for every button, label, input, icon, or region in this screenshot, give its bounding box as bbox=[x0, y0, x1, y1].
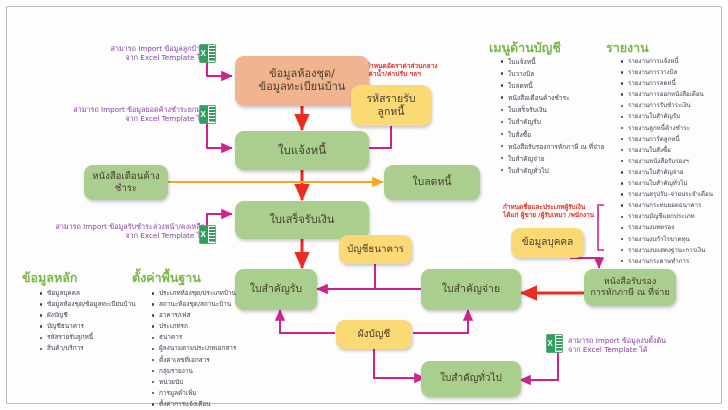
basic-settings-list: ประเภทห้องชุด/ประเภทบ้าน สถานะห้องชุด/สถ… bbox=[148, 288, 236, 410]
list-item[interactable]: ข้อมูลบุคคล bbox=[47, 288, 136, 298]
list-item[interactable]: กลุ่มรายงาน bbox=[159, 366, 236, 376]
node-income-code-line2: ลูกหนี้ bbox=[367, 106, 416, 118]
basic-settings-item-6: ตั้งค่าเลขที่เอกสาร bbox=[159, 356, 210, 364]
reports-item-6: รายงานลูกหนี้ค้างชำระ bbox=[628, 125, 690, 132]
reports-item-3: รายงานการออกหนังสือเตือน bbox=[628, 91, 704, 98]
basic-settings-item-4: ธนาคาร bbox=[159, 333, 182, 341]
diagram-canvas: สามารถ Import ข้อมูลลูกบ้าน จาก Excel Te… bbox=[0, 0, 728, 410]
reports-item-11: รายงานใบสำคัญทั่วไป bbox=[628, 180, 687, 187]
list-item[interactable]: ตั้งค่าเลขที่เอกสาร bbox=[159, 355, 236, 365]
node-general-voucher[interactable]: ใบสำคัญทั่วไป bbox=[421, 361, 521, 397]
reports-item-0: รายงานการแจ้งหนี้ bbox=[628, 58, 679, 65]
list-item[interactable]: รายงานกระดาษทำการ bbox=[628, 256, 713, 266]
list-item[interactable]: ใบสั่งซื้อ bbox=[508, 129, 605, 140]
master-data-item-3: บัญชีธนาคาร bbox=[47, 322, 84, 330]
note-import-customer: สามารถ Import ข้อมูลลูกบ้าน จาก Excel Te… bbox=[40, 44, 205, 62]
reports-item-8: รายงานใบสั่งซื้อ bbox=[628, 147, 671, 154]
list-item[interactable]: รายงานกระทบยอดธนาคาร bbox=[628, 200, 713, 210]
basic-settings-item-10: ตั้งค่าการแจ้งเตือน bbox=[159, 400, 211, 408]
master-data-list: ข้อมูลบุคคล ข้อมูลห้องชุด/ข้อมูลทะเบียนบ… bbox=[36, 288, 136, 355]
list-item[interactable]: บัญชีธนาคาร bbox=[47, 321, 136, 331]
accounting-menu-item-2: ใบลดหนี้ bbox=[508, 82, 533, 90]
list-item[interactable]: รายงานการ์ดลูกหนี้ bbox=[628, 134, 713, 144]
basic-settings-item-9: การมูลคำเพิ่ม bbox=[159, 389, 197, 397]
reports-title: รายงาน bbox=[606, 38, 649, 58]
list-item[interactable]: รายงานการวางบิล bbox=[628, 67, 713, 77]
node-reminder[interactable]: หนังสือเตือนค้าง ชำระ bbox=[84, 165, 168, 200]
accounting-menu-item-8: ใบสำคัญจ่าย bbox=[508, 155, 545, 163]
node-chart-of-accounts-label: ผังบัญชี bbox=[358, 329, 390, 341]
list-item[interactable]: รายงานใบสำคัญทั่วไป bbox=[628, 178, 713, 188]
basic-settings-item-2: อาคาร/เฟส bbox=[159, 311, 191, 319]
node-receive-voucher-label: ใบสำคัญรับ bbox=[250, 283, 302, 295]
accounting-menu-item-7: หนังสือรับรองการหักภาษี ณ ที่จ่าย bbox=[508, 143, 605, 151]
master-data-item-5: สินค้า/บริการ bbox=[47, 344, 84, 352]
node-income-code-line1: รหัสรายรับ bbox=[367, 93, 416, 105]
basic-settings-item-5: ผู้ลงนามตามประเภทเอกสาร bbox=[159, 344, 236, 352]
list-item[interactable]: ตั้งค่าการแจ้งเตือน bbox=[159, 399, 236, 409]
reports-item-15: รายงานงบทดรอง bbox=[628, 224, 674, 231]
node-room-data[interactable]: ข้อมูลห้องชุด/ ข้อมูลทะเบียนบ้าน bbox=[235, 56, 369, 106]
basic-settings-item-3: ประเภทรถ bbox=[159, 322, 188, 330]
node-credit-note-label: ใบลดหนี้ bbox=[412, 176, 451, 188]
svg-text:X: X bbox=[548, 339, 554, 348]
node-receipt-label: ใบเสร็จรับเงิน bbox=[270, 214, 335, 227]
list-item[interactable]: ผู้ลงนามตามประเภทเอกสาร bbox=[159, 343, 236, 353]
node-general-voucher-label: ใบสำคัญทั่วไป bbox=[440, 373, 502, 385]
note-person-setting: กำหนดชื่อและประเภทผู้รับเงิน ได้แก่ ผู้ข… bbox=[503, 203, 625, 219]
list-item[interactable]: ข้อมูลห้องชุด/ข้อมูลทะเบียนบ้าน bbox=[47, 299, 136, 309]
list-item[interactable]: ใบสำคัญจ่าย bbox=[508, 153, 605, 164]
list-item[interactable]: รายงานงบกำไรขาดทุน bbox=[628, 234, 713, 244]
node-reminder-line1: หนังสือเตือนค้าง bbox=[92, 171, 160, 182]
reports-item-7: รายงานการ์ดลูกหนี้ bbox=[628, 136, 680, 143]
list-item[interactable]: รายงานงบแสดงฐานะการเงิน bbox=[628, 245, 713, 255]
node-person-data[interactable]: ข้อมูลบุคคล bbox=[511, 228, 584, 258]
node-bank-account[interactable]: บัญชีธนาคาร bbox=[339, 235, 412, 264]
node-wht-certificate-line1: หนังสือรับรอง bbox=[590, 277, 669, 287]
accounting-menu-list: ใบแจ้งหนี้ ใบวางบิล ใบลดหนี้ หนังสือเตือ… bbox=[497, 56, 605, 177]
list-item[interactable]: รายงานการรับชำระเงิน bbox=[628, 100, 713, 110]
node-bank-account-label: บัญชีธนาคาร bbox=[347, 244, 404, 255]
list-item[interactable]: รายงานงบทดรอง bbox=[628, 222, 713, 232]
list-item[interactable]: ใบสำคัญทั่วไป bbox=[508, 165, 605, 176]
note-import-opening: สามารถ Import ข้อมูลงบตั้งต้น จาก Excel … bbox=[568, 336, 718, 354]
list-item[interactable]: รายงานสรุปรับ–จ่ายประจำเดือน bbox=[628, 189, 713, 199]
list-item[interactable]: สถานะห้องชุด/สถานะบ้าน bbox=[159, 299, 236, 309]
list-item[interactable]: การมูลคำเพิ่ม bbox=[159, 388, 236, 398]
list-item[interactable]: รายงานใบสำคัญจ่าย bbox=[628, 167, 713, 177]
node-reminder-line2: ชำระ bbox=[92, 183, 160, 194]
excel-icon-opening: X bbox=[546, 334, 563, 353]
list-item[interactable]: รายงานลูกหนี้ค้างชำระ bbox=[628, 123, 713, 133]
node-room-data-line2: ข้อมูลทะเบียนบ้าน bbox=[259, 81, 346, 94]
node-pay-voucher[interactable]: ใบสำคัญจ่าย bbox=[421, 269, 521, 310]
master-data-item-1: ข้อมูลห้องชุด/ข้อมูลทะเบียนบ้าน bbox=[47, 300, 136, 308]
list-item[interactable]: รายงานใบสั่งซื้อ bbox=[628, 145, 713, 155]
list-item[interactable]: ใบแจ้งหนี้ bbox=[508, 56, 605, 67]
reports-item-5: รายงานใบสำคัญรับ bbox=[628, 113, 680, 120]
excel-icon-outstanding: X bbox=[199, 105, 216, 124]
accounting-menu-title: เมนูด้านบัญชี bbox=[489, 38, 561, 58]
master-data-item-4: รหัสรายรับลูกหนี้ bbox=[47, 333, 93, 341]
reports-item-2: รายงานการลดหนี้ bbox=[628, 80, 676, 87]
list-item[interactable]: รายงานใบสำคัญรับ bbox=[628, 111, 713, 121]
basic-settings-item-7: กลุ่มรายงาน bbox=[159, 367, 193, 375]
list-item[interactable]: ใบวางบิล bbox=[508, 68, 605, 79]
list-item[interactable]: หนังสือเตือนค้างชำระ bbox=[508, 92, 605, 103]
list-item[interactable]: รายงานการแจ้งหนี้ bbox=[628, 56, 713, 66]
accounting-menu-item-4: ใบเสร็จรับเงิน bbox=[508, 106, 547, 114]
node-credit-note[interactable]: ใบลดหนี้ bbox=[384, 165, 480, 200]
reports-item-1: รายงานการวางบิล bbox=[628, 69, 677, 76]
accounting-menu-item-9: ใบสำคัญทั่วไป bbox=[508, 167, 549, 175]
reports-item-13: รายงานกระทบยอดธนาคาร bbox=[628, 202, 701, 209]
list-item[interactable]: ใบเสร็จรับเงิน bbox=[508, 104, 605, 115]
reports-list: รายงานการแจ้งหนี้ รายงานการวางบิล รายงาน… bbox=[617, 56, 713, 267]
note-import-receipt: สามารถ Import ข้อมูลรับชำระล่วงหน้า/คงเห… bbox=[14, 222, 205, 240]
note-rate-setting: กำหนดอัตราค่าส่วนกลาง /ค่าน้ำ/ค่าปรับ ฯล… bbox=[366, 62, 476, 78]
list-item[interactable]: รายงานการลดหนี้ bbox=[628, 78, 713, 88]
reports-item-16: รายงานงบกำไรขาดทุน bbox=[628, 236, 690, 243]
node-income-code[interactable]: รหัสรายรับ ลูกหนี้ bbox=[351, 85, 431, 126]
accounting-menu-item-0: ใบแจ้งหนี้ bbox=[508, 58, 536, 66]
list-item[interactable]: ประเภทรถ bbox=[159, 321, 236, 331]
node-receive-voucher[interactable]: ใบสำคัญรับ bbox=[235, 269, 317, 310]
basic-settings-item-1: สถานะห้องชุด/สถานะบ้าน bbox=[159, 300, 231, 308]
list-item[interactable]: รหัสรายรับลูกหนี้ bbox=[47, 332, 136, 342]
reports-item-14: รายงานบัญชีแยกประเภท bbox=[628, 213, 695, 220]
list-item[interactable]: รายงานการออกหนังสือเตือน bbox=[628, 89, 713, 99]
node-person-data-label: ข้อมูลบุคคล bbox=[522, 237, 573, 249]
accounting-menu-item-1: ใบวางบิล bbox=[508, 70, 534, 78]
list-item[interactable]: ผังบัญชี bbox=[47, 310, 136, 320]
list-item[interactable]: สินค้า/บริการ bbox=[47, 343, 136, 353]
excel-icon-customer: X bbox=[199, 44, 216, 63]
master-data-item-2: ผังบัญชี bbox=[47, 311, 68, 319]
master-data-title: ข้อมูลหลัก bbox=[22, 268, 77, 288]
reports-item-10: รายงานใบสำคัญจ่าย bbox=[628, 169, 684, 176]
node-wht-certificate-line2: การหักภาษี ณ ที่จ่าย bbox=[590, 288, 669, 298]
list-item[interactable]: ใบสำคัญรับ bbox=[508, 116, 605, 127]
svg-text:X: X bbox=[201, 49, 207, 58]
reports-item-17: รายงานงบแสดงฐานะการเงิน bbox=[628, 247, 705, 254]
node-receipt[interactable]: ใบเสร็จรับเงิน bbox=[235, 201, 369, 239]
node-pay-voucher-label: ใบสำคัญจ่าย bbox=[442, 283, 500, 295]
node-invoice[interactable]: ใบแจ้งหนี้ bbox=[235, 131, 369, 170]
list-item[interactable]: ใบลดหนี้ bbox=[508, 80, 605, 91]
basic-settings-item-8: หน่วยนับ bbox=[159, 378, 183, 386]
list-item[interactable]: ประเภทห้องชุด/ประเภทบ้าน bbox=[159, 288, 236, 298]
basic-settings-title: ตั้งค่าพื้นฐาน bbox=[132, 268, 201, 288]
list-item[interactable]: หนังสือรับรองการหักภาษี ณ ที่จ่าย bbox=[508, 141, 605, 152]
reports-item-9: รายงานหนังสือรับรองฯ bbox=[628, 158, 689, 165]
svg-text:X: X bbox=[201, 110, 207, 119]
note-import-outstanding: สามารถ Import ข้อมูลยอดค้างชำระยกมา จาก … bbox=[22, 105, 205, 123]
reports-item-4: รายงานการรับชำระเงิน bbox=[628, 102, 691, 109]
reports-item-12: รายงานสรุปรับ–จ่ายประจำเดือน bbox=[628, 191, 713, 198]
accounting-menu-item-6: ใบสั่งซื้อ bbox=[508, 131, 531, 139]
list-item[interactable]: รายงานหนังสือรับรองฯ bbox=[628, 156, 713, 166]
svg-text:X: X bbox=[201, 230, 207, 239]
node-invoice-label: ใบแจ้งหนี้ bbox=[278, 144, 326, 157]
accounting-menu-item-3: หนังสือเตือนค้างชำระ bbox=[508, 94, 570, 102]
excel-icon-receipt: X bbox=[199, 225, 216, 244]
reports-item-18: รายงานกระดาษทำการ bbox=[628, 258, 689, 265]
master-data-item-0: ข้อมูลบุคคล bbox=[47, 289, 80, 297]
node-wht-certificate[interactable]: หนังสือรับรอง การหักภาษี ณ ที่จ่าย bbox=[584, 269, 676, 306]
basic-settings-item-0: ประเภทห้องชุด/ประเภทบ้าน bbox=[159, 289, 236, 297]
list-item[interactable]: หน่วยนับ bbox=[159, 377, 236, 387]
accounting-menu-item-5: ใบสำคัญรับ bbox=[508, 118, 541, 126]
list-item[interactable]: ธนาคาร bbox=[159, 332, 236, 342]
list-item[interactable]: อาคาร/เฟส bbox=[159, 310, 236, 320]
list-item[interactable]: รายงานบัญชีแยกประเภท bbox=[628, 211, 713, 221]
node-chart-of-accounts[interactable]: ผังบัญชี bbox=[336, 320, 412, 349]
